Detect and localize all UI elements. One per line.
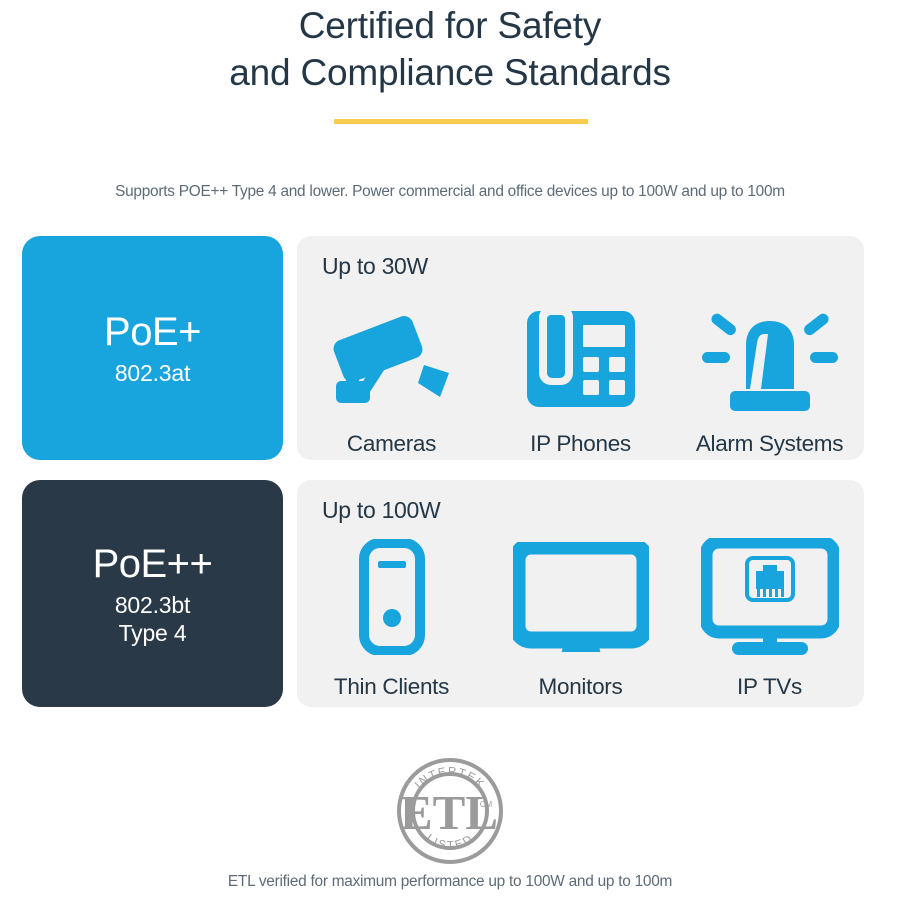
page-title-line-2: and Compliance Standards (0, 49, 900, 96)
poe-plusplus-tag-standard-line-2: Type 4 (115, 619, 190, 647)
device-label-alarm-systems: Alarm Systems (696, 431, 843, 457)
device-item-cameras: Cameras (297, 292, 486, 457)
page-title-line-1: Certified for Safety (299, 5, 601, 46)
page-title: Certified for Safety and Compliance Stan… (0, 2, 900, 96)
ip-tv-icon (701, 528, 839, 666)
security-camera-icon (328, 292, 456, 425)
poe-plus-tag-box: PoE+ 802.3at (22, 236, 283, 460)
etl-footnote: ETL verified for maximum performance up … (0, 873, 900, 891)
subtitle: Supports POE++ Type 4 and lower. Power c… (0, 183, 900, 201)
device-label-ip-tvs: IP TVs (737, 674, 802, 700)
poe-plusplus-tag-box: PoE++ 802.3bt Type 4 (22, 480, 283, 707)
poe-plus-tag-standard: 802.3at (115, 359, 190, 387)
poe-plus-power-rating: Up to 30W (322, 253, 428, 280)
poe-plusplus-power-rating: Up to 100W (322, 497, 440, 524)
etl-badge-trademark: CM (480, 800, 493, 809)
infographic-root: Certified for Safety and Compliance Stan… (0, 0, 900, 900)
device-item-alarm-systems: Alarm Systems (675, 292, 864, 457)
etl-badge-center-text: ETL (400, 785, 498, 840)
poe-plus-row: PoE+ 802.3at Up to 30W (0, 236, 900, 460)
monitor-icon (513, 528, 649, 666)
title-underline-divider (334, 119, 588, 124)
etl-listed-badge: INTERTEK LISTED ETL CM (394, 755, 506, 867)
poe-plusplus-device-list: Thin Clients Monitors (297, 528, 864, 700)
poe-plus-device-list: Cameras I (297, 292, 864, 457)
alarm-siren-icon (702, 292, 838, 425)
poe-plusplus-tag-standard-line-1: 802.3bt (115, 591, 190, 619)
poe-plus-tag-title: PoE+ (104, 309, 201, 355)
device-item-monitors: Monitors (486, 528, 675, 700)
device-item-ip-tvs: IP TVs (675, 528, 864, 700)
ip-phone-icon (527, 292, 635, 425)
poe-plusplus-row: PoE++ 802.3bt Type 4 Up to 100W (0, 480, 900, 707)
poe-plusplus-tag-standard: 802.3bt Type 4 (115, 591, 190, 647)
device-label-cameras: Cameras (347, 431, 436, 457)
rj45-connector-glyph (756, 565, 784, 597)
device-label-monitors: Monitors (539, 674, 623, 700)
poe-plusplus-panel: Up to 100W Thin Clients (297, 480, 864, 707)
device-label-thin-clients: Thin Clients (334, 674, 449, 700)
device-label-ip-phones: IP Phones (530, 431, 631, 457)
thin-client-icon (359, 528, 425, 666)
device-item-thin-clients: Thin Clients (297, 528, 486, 700)
device-item-ip-phones: IP Phones (486, 292, 675, 457)
poe-plusplus-tag-title: PoE++ (93, 541, 213, 587)
poe-plus-panel: Up to 30W (297, 236, 864, 460)
